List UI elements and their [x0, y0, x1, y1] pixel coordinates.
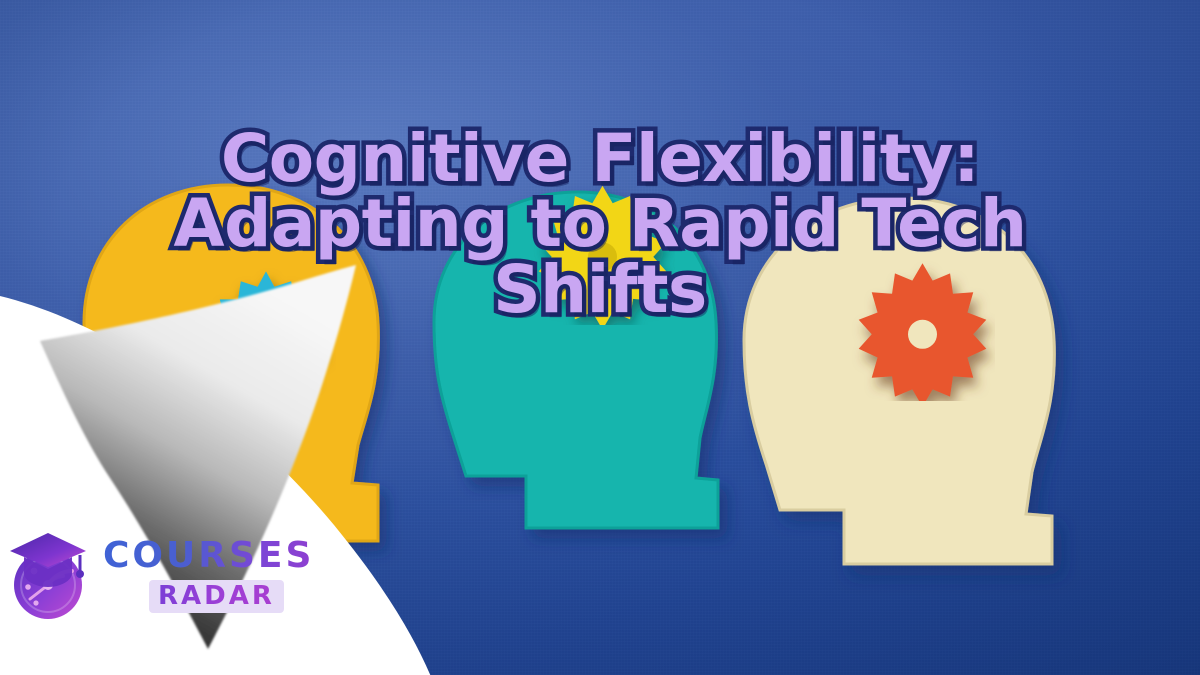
logo-radar-badge: RADAR	[149, 580, 284, 613]
thumbnail-canvas: Cognitive Flexibility: Adapting to Rapid…	[0, 0, 1200, 675]
page-title: Cognitive Flexibility: Adapting to Rapid…	[0, 126, 1200, 322]
logo-radar-text: RADAR	[158, 581, 275, 611]
courses-radar-logo[interactable]: COURSES RADAR	[8, 525, 314, 625]
logo-courses-text: COURSES	[101, 538, 314, 574]
logo-wordmark: COURSES RADAR	[101, 538, 314, 613]
graduation-cap-radar-icon	[8, 525, 92, 625]
